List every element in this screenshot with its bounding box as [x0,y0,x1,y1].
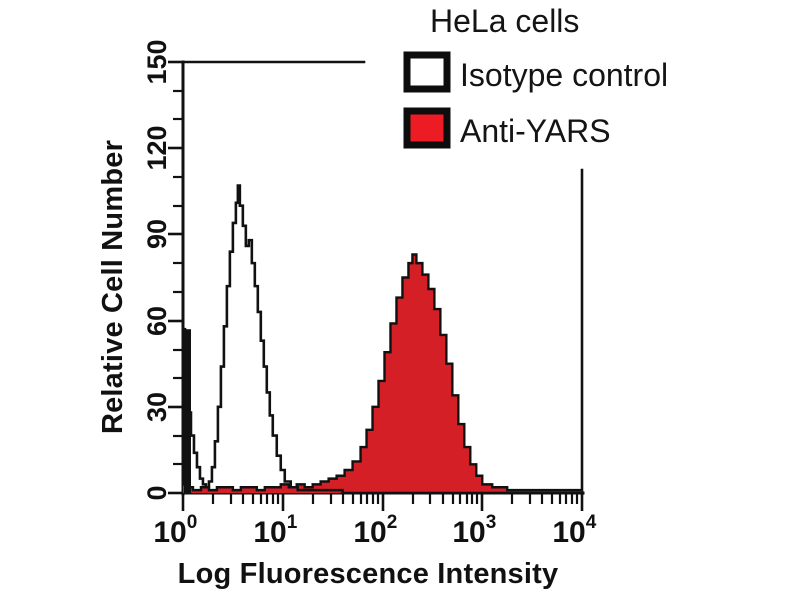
legend-swatch-anti-yars [407,111,447,145]
flow-cytometry-figure: Relative Cell Number 0 30 60 90 120 150 [0,0,800,600]
y-tick-labels: 0 30 60 90 120 150 [142,39,172,500]
x-tick-label-10e4: 10 4 [552,512,596,549]
y-tick-label-30: 30 [142,392,172,422]
figure-canvas: Relative Cell Number 0 30 60 90 120 150 [0,0,800,600]
legend-entry-anti-yars[interactable]: Anti-YARS [407,111,611,149]
x-tick-label-10e0: 10 0 [153,512,197,549]
y-tick-label-120: 120 [142,125,172,170]
svg-text:10: 10 [452,516,485,549]
x-tick-label-10e2: 10 2 [353,512,397,549]
svg-text:0: 0 [187,512,198,533]
y-axis-title: Relative Cell Number [97,140,129,434]
svg-text:10: 10 [253,516,286,549]
legend-swatch-isotype-control [407,55,447,89]
x-tick-label-10e3: 10 3 [452,512,496,549]
x-axis-ticks [183,493,582,511]
y-tick-label-150: 150 [142,39,172,84]
plot-series-group [183,186,582,493]
x-axis-title: Log Fluorescence Intensity [178,558,559,590]
svg-text:10: 10 [552,516,585,549]
series-anti-yars-fill [183,255,582,493]
y-tick-label-60: 60 [142,306,172,336]
y-tick-label-90: 90 [142,219,172,249]
legend-header: HeLa cells [430,3,579,39]
legend-label-anti-yars: Anti-YARS [460,113,611,149]
legend: HeLa cells Isotype control Anti-YARS [407,3,668,149]
x-tick-label-10e1: 10 1 [253,512,297,549]
svg-text:10: 10 [353,516,386,549]
svg-text:4: 4 [586,512,597,533]
svg-text:10: 10 [153,516,186,549]
y-tick-label-0: 0 [142,485,172,500]
legend-label-isotype-control: Isotype control [460,57,668,93]
svg-text:1: 1 [287,512,298,533]
x-tick-labels: 10 0 10 1 10 2 10 3 10 4 [153,512,596,549]
legend-entry-isotype-control[interactable]: Isotype control [407,55,668,93]
svg-text:3: 3 [486,512,497,533]
left-edge-event-spike [184,329,191,493]
svg-text:2: 2 [387,512,398,533]
